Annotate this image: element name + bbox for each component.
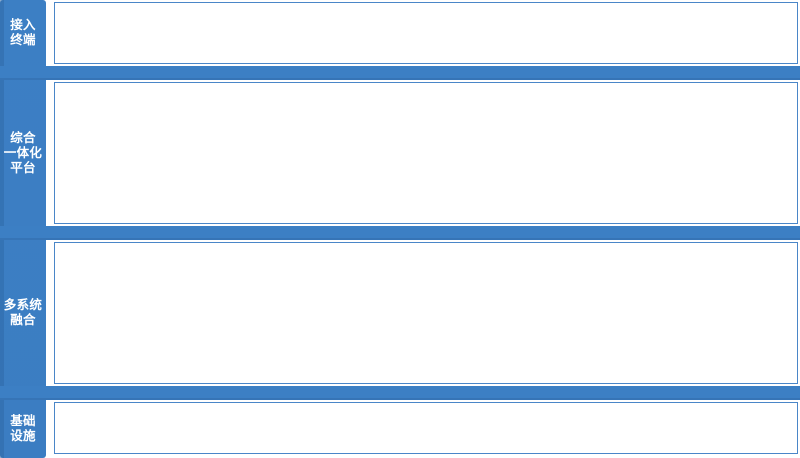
rail-label-multi-system-fusion: 多系统 融合: [0, 240, 46, 386]
rail-label-access-terminal: 接入 终端: [0, 0, 46, 66]
panel-multi-system-fusion: [54, 242, 798, 384]
rail-label-line: 融合: [4, 313, 42, 328]
panel-integrated-platform: [54, 82, 798, 224]
section-divider-band-1: [0, 66, 800, 80]
rail-label-line: 接入: [10, 18, 36, 33]
rail-label-line: 多系统: [4, 298, 42, 313]
panel-infrastructure: [54, 402, 798, 454]
section-divider-band-3: [0, 386, 800, 400]
rail-label-line: 基础: [10, 414, 36, 429]
rail-label-line: 终端: [10, 33, 36, 48]
rail-label-line: 设施: [10, 429, 36, 444]
rail-label-line: 综合: [4, 131, 42, 146]
rail-label-infrastructure: 基础 设施: [0, 400, 46, 458]
panel-access-terminal: [54, 2, 798, 64]
rail-label-line: 一体化: [4, 146, 42, 161]
section-divider-band-2: [0, 226, 800, 240]
rail-label-line: 平台: [4, 161, 42, 176]
architecture-diagram: 接入 终端 移动Pad 移动手机 工业手持机 笔记本 智能头盔 桌面工作站 指挥…: [0, 0, 800, 458]
rail-label-integrated-platform: 综合 一体化 平台: [0, 80, 46, 226]
